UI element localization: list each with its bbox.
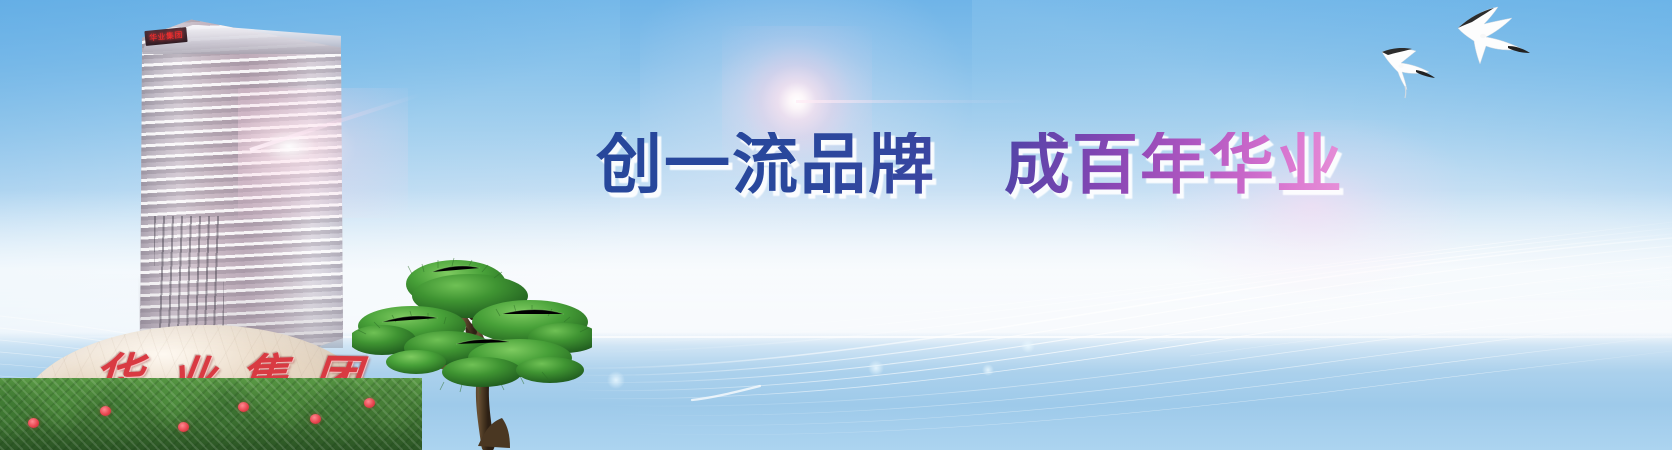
office-tower: 华业集团: [138, 18, 343, 348]
seagull-icon: [1458, 7, 1530, 64]
flower-icon: [238, 402, 249, 412]
company-banner: 华业集团: [0, 0, 1672, 450]
slogan-text: 创一流品牌 成百年华业: [596, 132, 1344, 198]
flower-icon: [364, 398, 375, 408]
bonsai-foliage: [352, 260, 592, 387]
banner-slogan: 创一流品牌 成百年华业 创一流品牌 成百年华业: [596, 132, 1344, 198]
flower-icon: [100, 406, 111, 416]
sun-ray: [796, 100, 1036, 103]
flower-icon: [178, 422, 189, 432]
flower-icon: [310, 414, 321, 424]
hedge-leaf-texture: [0, 378, 422, 450]
hedge-row: [0, 378, 422, 450]
seagull-icon: [1382, 48, 1435, 98]
rooftop-sign-text: 华业集团: [149, 31, 184, 42]
seagull-group: [1360, 4, 1560, 124]
flower-icon: [28, 418, 39, 428]
